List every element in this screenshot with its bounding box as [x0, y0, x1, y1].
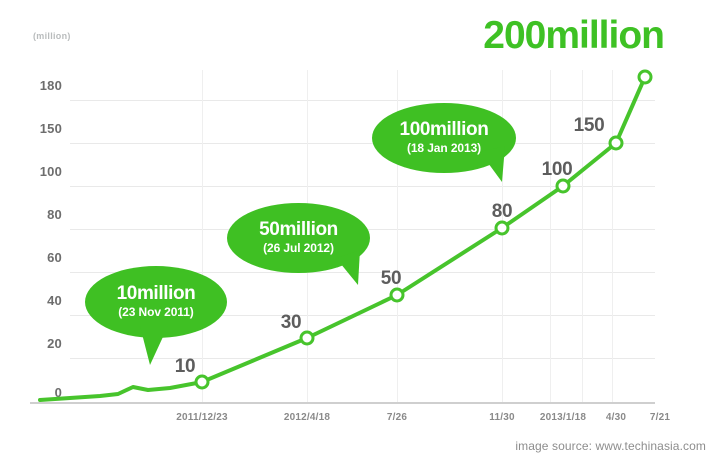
image-source-note: image source: www.techinasia.com	[515, 439, 706, 453]
annotation-tail-100million	[0, 0, 720, 462]
chart-container: (million) 200million 180 150 100 80 60 4…	[0, 0, 720, 462]
